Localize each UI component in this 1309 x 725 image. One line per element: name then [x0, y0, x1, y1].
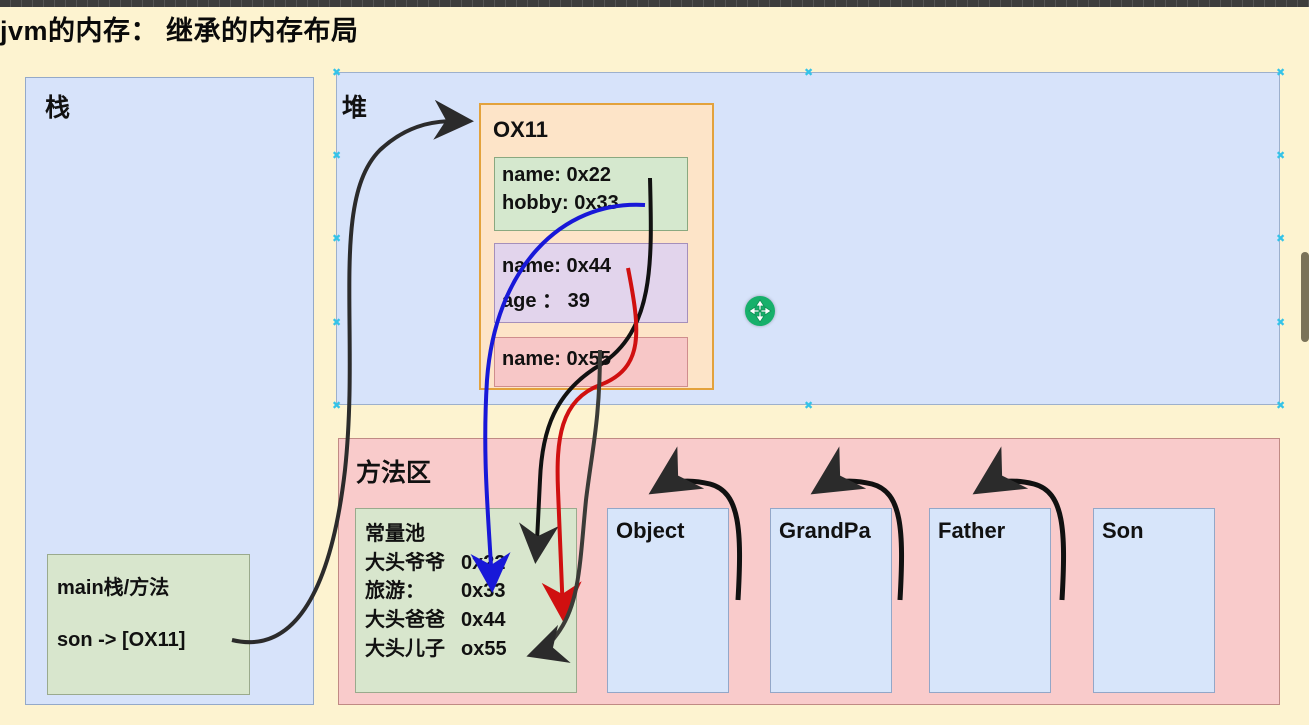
selection-handle-ne[interactable]: ✖ — [1276, 68, 1285, 77]
selection-handle-e1[interactable]: ✖ — [1276, 151, 1285, 160]
vertical-scrollbar-thumb[interactable] — [1301, 252, 1309, 342]
heap-region-label: 堆 — [342, 88, 367, 124]
constant-pool-key: 大头儿子 — [365, 632, 461, 661]
object-field: name: 0x55 — [502, 348, 611, 371]
selection-handle-sw[interactable]: ✖ — [332, 401, 341, 410]
selection-handle-w1[interactable]: ✖ — [332, 151, 341, 160]
class-box-son[interactable]: Son — [1093, 508, 1215, 693]
constant-pool-value: ox55 — [461, 638, 507, 661]
stack-region-label: 栈 — [45, 88, 70, 124]
constant-pool-key: 大头爷爷 — [365, 546, 461, 575]
page-title: jvm的内存： 继承的内存布局 — [0, 9, 359, 48]
constant-pool-key: 旅游： — [365, 574, 461, 603]
stack-frame-variable: son -> [OX11] — [57, 629, 185, 652]
class-box-father[interactable]: Father — [929, 508, 1051, 693]
constant-pool-value: 0x22 — [461, 552, 506, 575]
selection-handle-se[interactable]: ✖ — [1276, 401, 1285, 410]
ruler-strip — [0, 0, 1309, 7]
constant-pool-row: 大头爸爸0x44 — [365, 603, 506, 632]
class-name-label: Father — [938, 518, 1005, 544]
selection-handle-nw[interactable]: ✖ — [332, 68, 341, 77]
constant-pool-row: 大头儿子ox55 — [365, 632, 507, 661]
class-name-label: Object — [616, 518, 684, 544]
vertical-scrollbar-track[interactable] — [1301, 7, 1309, 725]
selection-handle-w2[interactable]: ✖ — [332, 318, 341, 327]
object-field: hobby: 0x33 — [502, 192, 619, 215]
move-cursor-icon — [745, 296, 775, 326]
heap-object-id: OX11 — [493, 117, 548, 143]
move-arrows-icon — [745, 296, 775, 326]
class-box-grandpa[interactable]: GrandPa — [770, 508, 892, 693]
constant-pool-row: 旅游：0x33 — [365, 574, 506, 603]
object-field: age ： 39 — [502, 284, 590, 313]
selection-handle-e[interactable]: ✖ — [1276, 234, 1285, 243]
class-name-label: GrandPa — [779, 518, 871, 544]
constant-pool-value: 0x33 — [461, 580, 506, 603]
object-slot-father[interactable]: name: 0x44 age ： 39 — [494, 243, 688, 323]
class-box-object[interactable]: Object — [607, 508, 729, 693]
constant-pool-row: 大头爷爷0x22 — [365, 546, 506, 575]
stack-frame-title: main栈/方法 — [57, 571, 169, 600]
heap-region[interactable] — [336, 72, 1280, 405]
constant-pool-key: 大头爸爸 — [365, 603, 461, 632]
constant-pool-box[interactable]: 常量池 大头爷爷0x22 旅游：0x33 大头爸爸0x44 大头儿子ox55 — [355, 508, 577, 693]
selection-handle-e2[interactable]: ✖ — [1276, 318, 1285, 327]
selection-handle-n[interactable]: ✖ — [804, 68, 813, 77]
heap-object[interactable]: OX11 name: 0x22 hobby: 0x33 name: 0x44 a… — [479, 103, 714, 390]
object-slot-son[interactable]: name: 0x55 — [494, 337, 688, 387]
class-name-label: Son — [1102, 518, 1144, 544]
selection-handle-w[interactable]: ✖ — [332, 234, 341, 243]
main-stack-frame[interactable]: main栈/方法 son -> [OX11] — [47, 554, 250, 695]
constant-pool-value: 0x44 — [461, 609, 506, 632]
object-field: name: 0x44 — [502, 255, 611, 278]
object-field: name: 0x22 — [502, 164, 611, 187]
constant-pool-title: 常量池 — [365, 517, 425, 546]
object-slot-grandpa[interactable]: name: 0x22 hobby: 0x33 — [494, 157, 688, 231]
drawing-canvas[interactable]: jvm的内存： 继承的内存布局 栈 main栈/方法 son -> [OX11]… — [0, 0, 1309, 725]
selection-handle-s[interactable]: ✖ — [804, 401, 813, 410]
method-area-label: 方法区 — [356, 453, 431, 489]
